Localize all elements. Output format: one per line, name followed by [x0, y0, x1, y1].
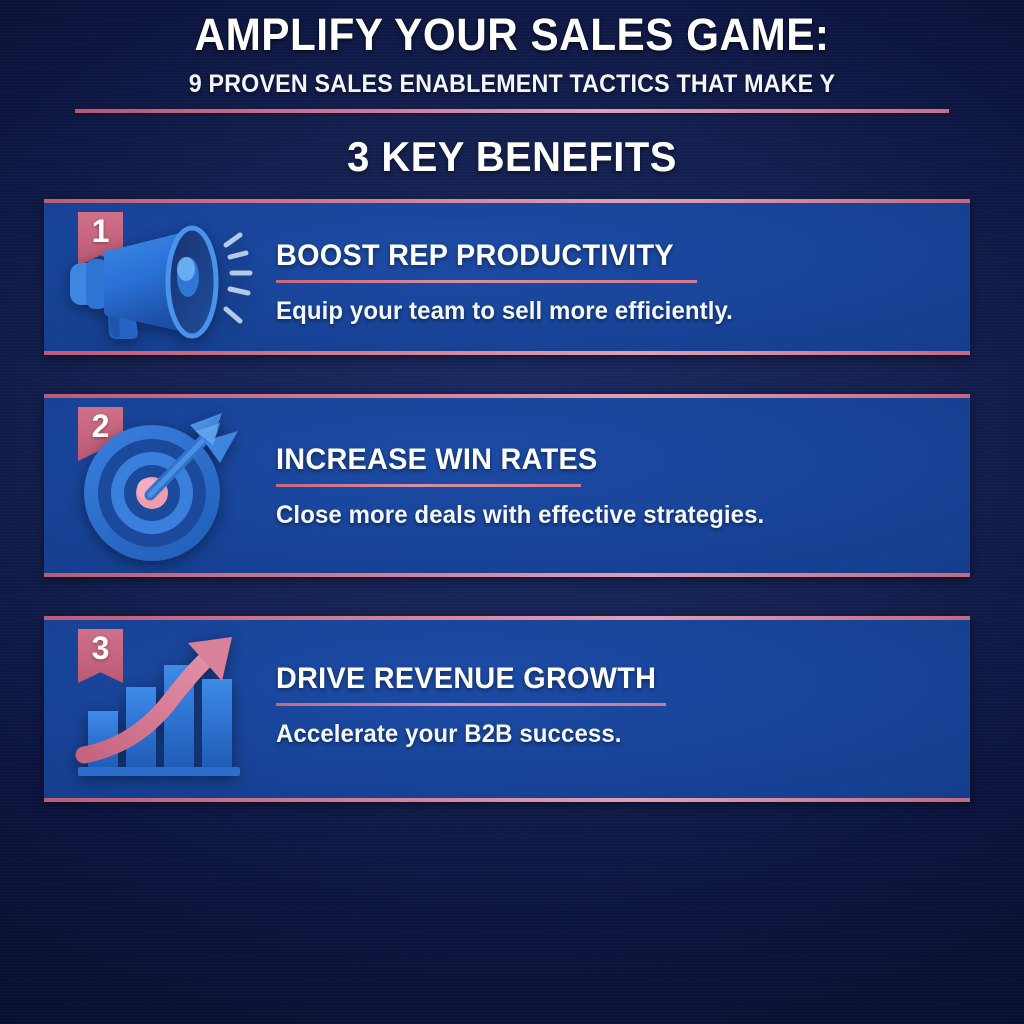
benefit-title-1: BOOST REP PRODUCTIVITY	[276, 239, 674, 280]
benefits-list: 1	[0, 199, 1024, 802]
poster-title: AMPLIFY YOUR SALES GAME:	[31, 12, 994, 57]
benefit-card-1[interactable]: 1	[44, 199, 970, 355]
benefit-description-2: Close more deals with effective strategi…	[276, 501, 913, 530]
poster-subtitle: 9 PROVEN SALES ENABLEMENT TACTICS THAT M…	[36, 70, 988, 99]
benefit-card-2[interactable]: 2	[44, 394, 970, 577]
infographic-poster: AMPLIFY YOUR SALES GAME: 9 PROVEN SALES …	[0, 0, 1024, 1024]
benefit-title-3: DRIVE REVENUE GROWTH	[276, 662, 656, 703]
benefit-title-rule-2	[276, 484, 581, 487]
section-heading: 3 KEY BENEFITS	[26, 133, 999, 181]
benefit-title-rule-3	[276, 703, 666, 706]
benefit-title-rule-1	[276, 280, 697, 283]
megaphone-icon	[44, 203, 276, 351]
poster-header: AMPLIFY YOUR SALES GAME: 9 PROVEN SALES …	[0, 0, 1024, 181]
benefit-text-3: DRIVE REVENUE GROWTH Accelerate your B2B…	[276, 620, 970, 749]
benefit-title-2: INCREASE WIN RATES	[276, 443, 597, 484]
benefit-description-3: Accelerate your B2B success.	[276, 720, 913, 749]
target-dart-icon	[44, 398, 276, 573]
benefit-text-1: BOOST REP PRODUCTIVITY Equip your team t…	[276, 203, 970, 326]
benefit-description-1: Equip your team to sell more efficiently…	[276, 297, 913, 326]
benefit-text-2: INCREASE WIN RATES Close more deals with…	[276, 398, 970, 530]
growth-bar-chart-icon	[44, 620, 276, 798]
header-divider-rule	[75, 109, 949, 113]
benefit-card-3[interactable]: 3	[44, 616, 970, 802]
